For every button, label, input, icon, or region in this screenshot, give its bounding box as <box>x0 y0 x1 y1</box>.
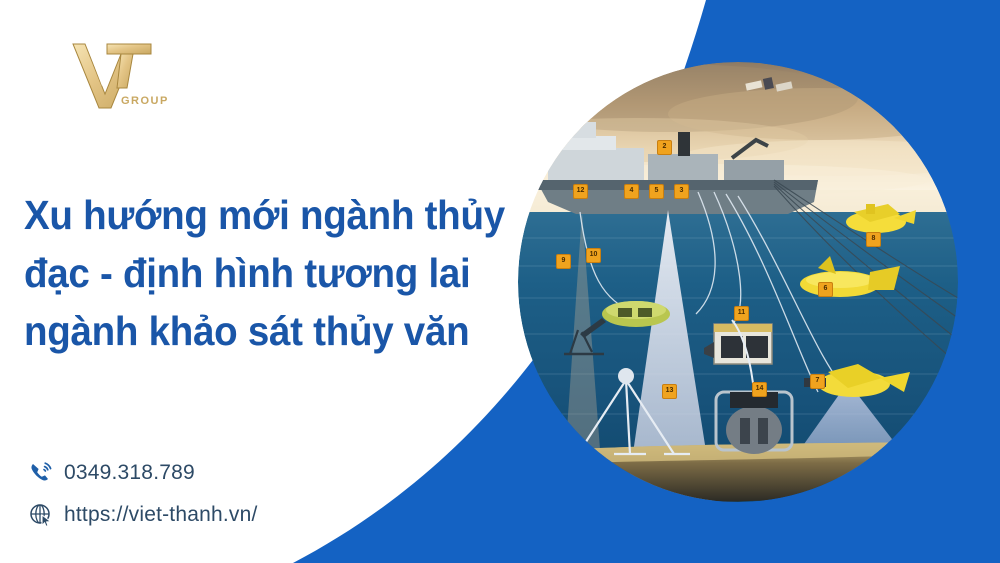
marker-7: 7 <box>810 374 825 389</box>
logo-subtext: GROUP <box>121 95 169 107</box>
headline-line-3: ngành khảo sát thủy văn <box>24 302 466 360</box>
contact-block: 0349.318.789 https://viet-thanh.vn/ <box>18 452 258 536</box>
page-title: Xu hướng mới ngành thủy đạc - định hình … <box>24 186 466 361</box>
website-url: https://viet-thanh.vn/ <box>64 503 258 527</box>
marker-10: 10 <box>586 248 601 263</box>
vt-group-logo: GROUP <box>55 38 175 118</box>
marker-12: 12 <box>573 184 588 199</box>
marker-2: 2 <box>657 140 672 155</box>
marker-4: 4 <box>624 184 639 199</box>
phone-number: 0349.318.789 <box>64 461 195 485</box>
marker-5: 5 <box>649 184 664 199</box>
marker-9: 9 <box>556 254 571 269</box>
marker-14: 14 <box>752 382 767 397</box>
contact-phone-row[interactable]: 0349.318.789 <box>18 452 258 494</box>
globe-cursor-icon <box>18 496 64 534</box>
hydrographic-survey-illustration: 2 12 4 5 3 9 10 8 6 11 7 13 14 <box>518 62 958 502</box>
marker-6: 6 <box>818 282 833 297</box>
marker-8: 8 <box>866 232 881 247</box>
headline-line-1: Xu hướng mới ngành thủy <box>24 186 466 244</box>
marker-3: 3 <box>674 184 689 199</box>
contact-website-row[interactable]: https://viet-thanh.vn/ <box>18 494 258 536</box>
marker-11: 11 <box>734 306 749 321</box>
poster-canvas: GROUP Xu hướng mới ngành thủy đạc - định… <box>0 0 1000 563</box>
headline-line-2: đạc - định hình tương lai <box>24 244 466 302</box>
phone-ringing-icon <box>18 454 64 492</box>
marker-13: 13 <box>662 384 677 399</box>
